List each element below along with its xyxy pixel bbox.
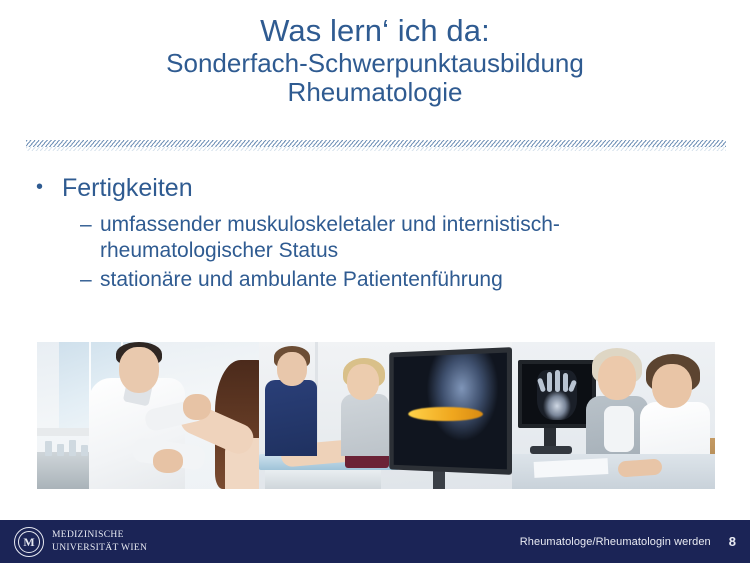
dash-marker-icon: – <box>80 212 100 239</box>
title-line-3: Rheumatologie <box>40 78 710 107</box>
photo-doctor-examining-arm <box>37 342 259 489</box>
knee-xray-image-decor <box>394 353 507 470</box>
page-number: 8 <box>729 534 736 549</box>
doctor-head-decor <box>277 352 307 386</box>
footer-caption: Rheumatologe/Rheumatologin werden <box>520 536 711 548</box>
knee-xray-monitor-decor <box>389 347 512 475</box>
footer-right-group: Rheumatologe/Rheumatologin werden 8 <box>520 520 736 563</box>
seal-icon: M <box>14 527 44 557</box>
list-item: – stationäre und ambulante Patientenführ… <box>80 267 726 294</box>
patient-shirt-decor <box>604 406 634 452</box>
exam-table-base-decor <box>265 470 381 489</box>
doctor-head-decor <box>652 364 692 408</box>
doctor-head-decor <box>119 347 159 393</box>
title-line-2: Sonderfach-Schwerpunktausbildung <box>40 49 710 78</box>
doctor-hand-upper-decor <box>183 394 211 420</box>
university-logo: M MEDIZINISCHE UNIVERSITÄT WIEN <box>14 527 147 557</box>
doctor-hand-lower-decor <box>153 449 183 473</box>
bullet-marker-icon: • <box>36 174 62 201</box>
doctor-body-decor <box>265 380 317 456</box>
patient-head-decor <box>347 364 379 400</box>
patient-body-decor <box>341 394 389 456</box>
photo-strip <box>37 342 715 489</box>
monogram-icon: M <box>23 536 36 549</box>
monitor-stand-decor <box>544 428 556 448</box>
hand-xray-monitor-decor <box>518 360 596 428</box>
list-item-label: Fertigkeiten <box>62 174 726 204</box>
xray-highlight-decor <box>408 406 482 421</box>
slide: Was lern‘ ich da: Sonderfach-Schwerpunkt… <box>0 0 750 563</box>
list-item: – umfassender muskuloskeletaler und inte… <box>80 212 726 266</box>
hatched-divider <box>26 140 726 147</box>
dash-marker-icon: – <box>80 267 100 294</box>
hand-xray-image-decor <box>537 370 577 420</box>
list-item-label: stationäre und ambulante Patientenführun… <box>100 267 726 294</box>
list-item-label: umfassender muskuloskeletaler und intern… <box>100 212 726 266</box>
hands-on-desk-decor <box>617 458 662 477</box>
logo-text: MEDIZINISCHE UNIVERSITÄT WIEN <box>52 529 147 554</box>
monitor-stand-decor <box>433 470 445 489</box>
photo-hand-xray-consultation <box>512 342 715 489</box>
bullet-list: • Fertigkeiten – umfassender muskuloskel… <box>36 174 726 296</box>
patient-head-decor <box>598 356 636 400</box>
page-title: Was lern‘ ich da: Sonderfach-Schwerpunkt… <box>40 14 710 107</box>
logo-text-line-1: MEDIZINISCHE <box>52 529 147 542</box>
hatched-divider-shadow <box>26 147 726 151</box>
logo-text-line-2: UNIVERSITÄT WIEN <box>52 542 147 555</box>
photo-exam-table-knee-xray-monitor <box>259 342 512 489</box>
title-line-1: Was lern‘ ich da: <box>40 14 710 49</box>
monitor-base-decor <box>530 446 572 454</box>
list-item: • Fertigkeiten <box>36 174 726 204</box>
footer-bar: M MEDIZINISCHE UNIVERSITÄT WIEN Rheumato… <box>0 520 750 563</box>
